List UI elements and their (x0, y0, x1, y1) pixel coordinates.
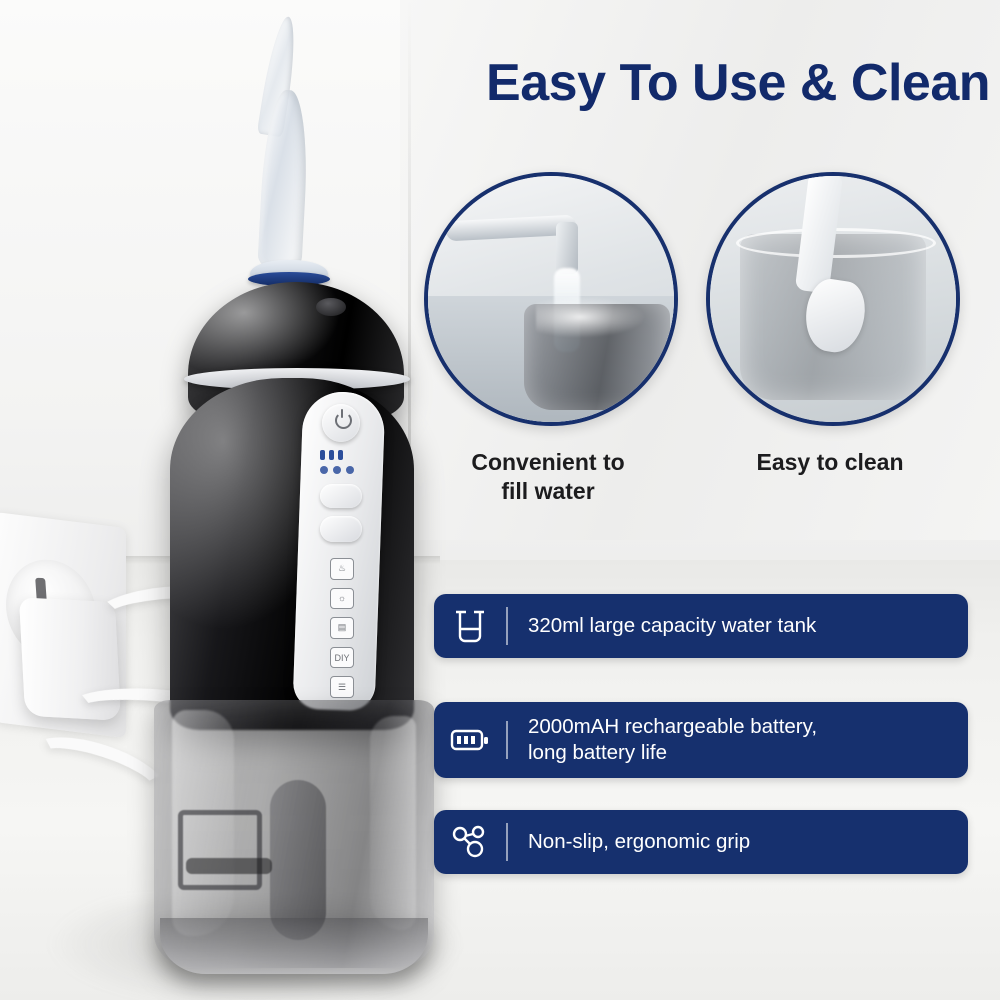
feature-row-grip: Non-slip, ergonomic grip (434, 810, 968, 874)
tank-highlight-right (370, 716, 416, 930)
feature-text-line1: 320ml large capacity water tank (528, 613, 816, 639)
callout-photo-fill-water (424, 172, 678, 426)
feature-row-battery: 2000mAH rechargeable battery, long batte… (434, 702, 968, 778)
mode-dot (320, 466, 328, 474)
feature-text-line1: Non-slip, ergonomic grip (528, 829, 750, 855)
panel-icon-stack: ♨ ☼ ▤ DIY ☰ (322, 558, 362, 698)
mode-label-icon: ☰ (330, 676, 354, 698)
callout-caption-fill-water: Convenient to fill water (418, 448, 678, 507)
feature-row-water-tank: 320ml large capacity water tank (434, 594, 968, 658)
feature-text-line1: 2000mAH rechargeable battery, (528, 714, 817, 740)
calendar-mode-icon: ▤ (330, 617, 354, 639)
feature-text-line2: long battery life (528, 740, 817, 766)
page-title: Easy To Use & Clean (412, 56, 990, 111)
nozzle-release-button (316, 298, 346, 316)
faucet-spout (556, 222, 578, 274)
beaker-icon (434, 607, 506, 645)
product-infographic: ♨ ☼ ▤ DIY ☰ Easy To Use & Clean Conv (0, 0, 1000, 1000)
feature-text: 320ml large capacity water tank (508, 613, 830, 639)
callout-caption-line2: fill water (418, 477, 678, 506)
spray-mode-icon: ♨ (330, 558, 354, 580)
brightness-mode-icon: ☼ (330, 588, 354, 610)
feature-text: Non-slip, ergonomic grip (508, 829, 764, 855)
power-icon (335, 412, 352, 429)
tank-valve (178, 810, 262, 890)
mode-button-upper (320, 484, 362, 508)
water-splash (536, 296, 646, 338)
battery-icon (434, 725, 506, 755)
tank-inner-tube (270, 780, 326, 940)
tank-valve-bar (186, 858, 272, 874)
dia-mode-icon: DIY (330, 647, 354, 669)
battery-led (329, 450, 334, 460)
mode-indicator-dots (320, 466, 364, 478)
grip-icon (434, 824, 506, 860)
tank-base (160, 918, 428, 974)
callout-caption-line1: Easy to clean (700, 448, 960, 477)
mode-button-lower (320, 516, 362, 542)
feature-text: 2000mAH rechargeable battery, long batte… (508, 714, 831, 765)
callout-caption-line1: Convenient to (418, 448, 678, 477)
callout-caption-easy-clean: Easy to clean (700, 448, 960, 477)
callout-photo-easy-clean (706, 172, 960, 426)
battery-led-row (320, 450, 362, 460)
mode-dot (333, 466, 341, 474)
battery-led (338, 450, 343, 460)
water-flosser-device: ♨ ☼ ▤ DIY ☰ (120, 10, 450, 985)
mode-dot (346, 466, 354, 474)
battery-led (320, 450, 325, 460)
